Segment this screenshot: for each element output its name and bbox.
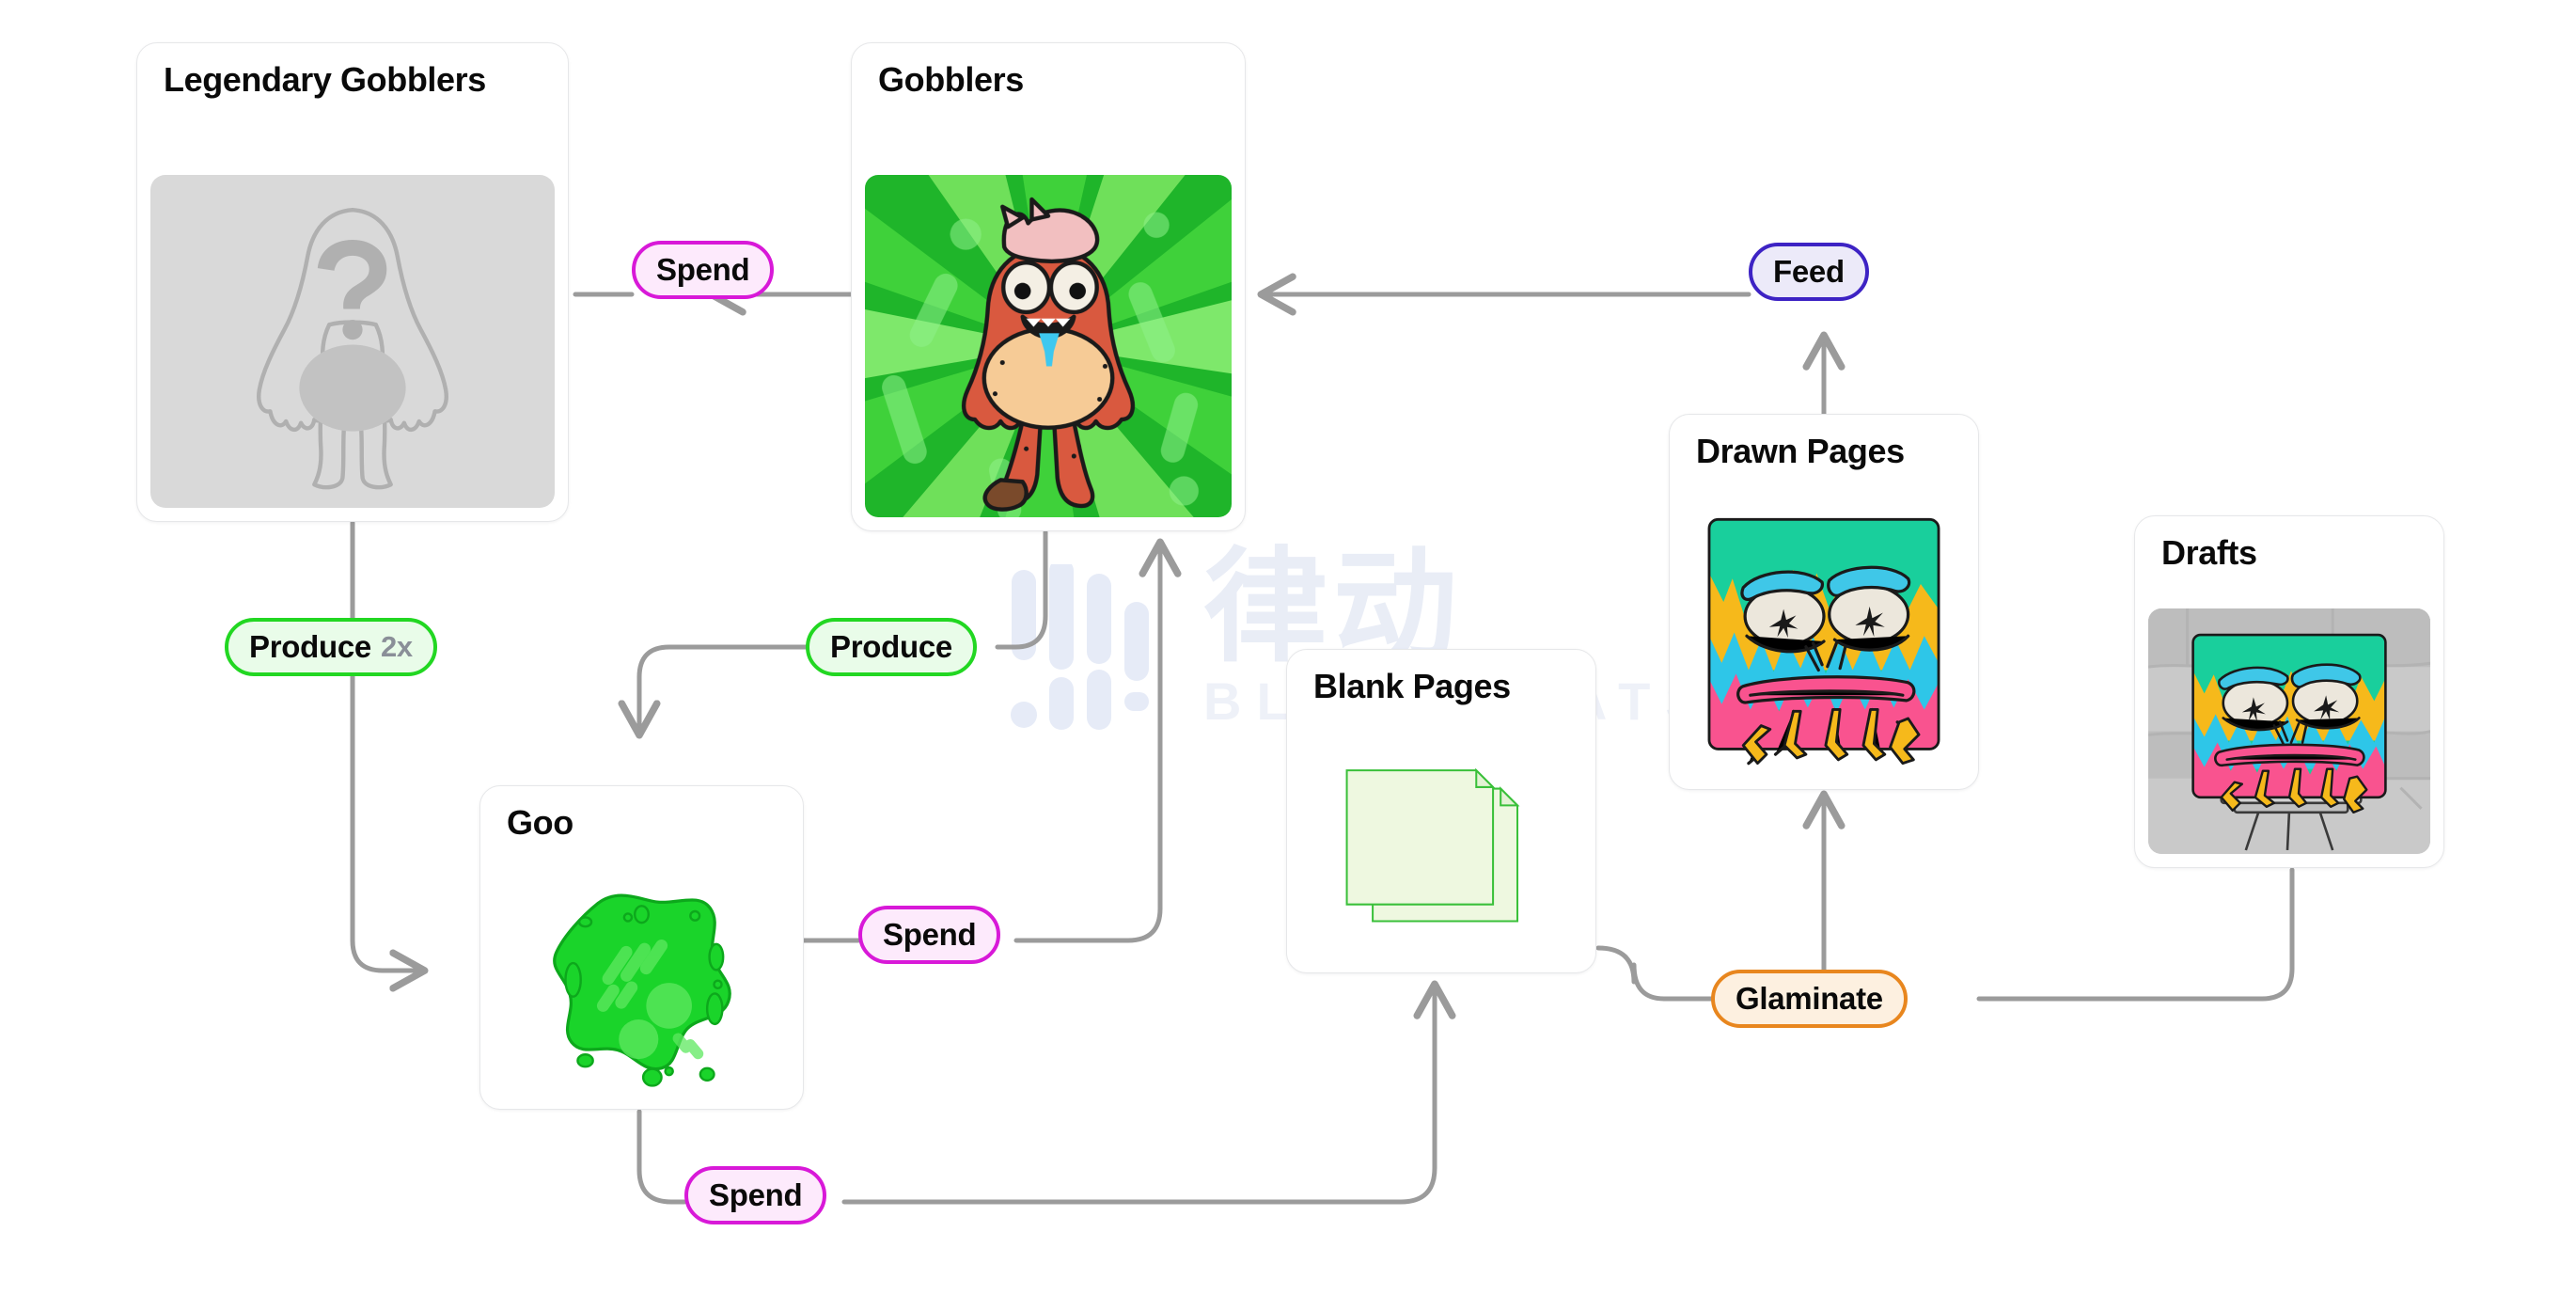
edge-gobblers-to-goo-b — [639, 647, 806, 732]
edge-label-text: Spend — [656, 252, 749, 288]
edge-label-text: Produce — [830, 629, 952, 665]
edge-label-spend-gobblers-legendary[interactable]: Spend — [632, 241, 774, 299]
edge-goo-to-gobblers-b — [1016, 545, 1160, 940]
node-legendary-gobblers[interactable]: Legendary Gobblers — [136, 42, 569, 522]
node-title-gobblers: Gobblers — [852, 43, 1245, 99]
node-gobblers[interactable]: Gobblers — [851, 42, 1246, 531]
edge-gobblers-to-goo-a — [997, 532, 1045, 647]
edge-drafts-to-glaminate — [1979, 870, 2292, 999]
node-title-drawn-pages: Drawn Pages — [1670, 415, 1978, 470]
edge-label-feed[interactable]: Feed — [1749, 243, 1869, 301]
diagram-canvas: 律动 BLOCKBEATS — [0, 0, 2576, 1311]
gobblers-artwork — [865, 175, 1232, 517]
edge-label-text: Spend — [883, 917, 976, 953]
node-title-blank-pages: Blank Pages — [1287, 650, 1595, 705]
blank-pages-artwork — [1300, 731, 1582, 959]
edge-label-spend-goo-blank-pages[interactable]: Spend — [684, 1166, 826, 1224]
node-title-drafts: Drafts — [2135, 516, 2443, 572]
drawn-pages-artwork — [1683, 507, 1965, 776]
edge-blank-to-glaminate — [1598, 948, 1711, 999]
legendary-gobblers-artwork — [150, 175, 555, 508]
goo-artwork — [494, 867, 790, 1096]
edge-goo-to-blank-a — [639, 1112, 684, 1202]
edge-label-glaminate[interactable]: Glaminate — [1711, 970, 1908, 1028]
edge-label-spend-goo-gobblers[interactable]: Spend — [858, 906, 1000, 964]
node-drafts[interactable]: Drafts — [2134, 515, 2444, 868]
edge-label-produce[interactable]: Produce — [806, 618, 977, 676]
edge-label-text: Produce — [249, 629, 371, 665]
edge-label-text: Feed — [1773, 254, 1845, 290]
edge-label-produce-2x[interactable]: Produce 2x — [225, 618, 437, 676]
drafts-artwork — [2148, 608, 2430, 854]
edge-goo-to-blank-b — [844, 987, 1435, 1202]
node-title-goo: Goo — [480, 786, 803, 842]
node-drawn-pages[interactable]: Drawn Pages — [1669, 414, 1979, 790]
node-goo[interactable]: Goo — [479, 785, 804, 1110]
edge-legendary-to-goo-bottom — [353, 676, 421, 971]
node-blank-pages[interactable]: Blank Pages — [1286, 649, 1596, 973]
node-title-legendary-gobblers: Legendary Gobblers — [137, 43, 568, 99]
edge-label-text: Glaminate — [1736, 981, 1883, 1017]
edge-label-multiplier: 2x — [381, 630, 413, 664]
edge-label-text: Spend — [709, 1177, 802, 1213]
